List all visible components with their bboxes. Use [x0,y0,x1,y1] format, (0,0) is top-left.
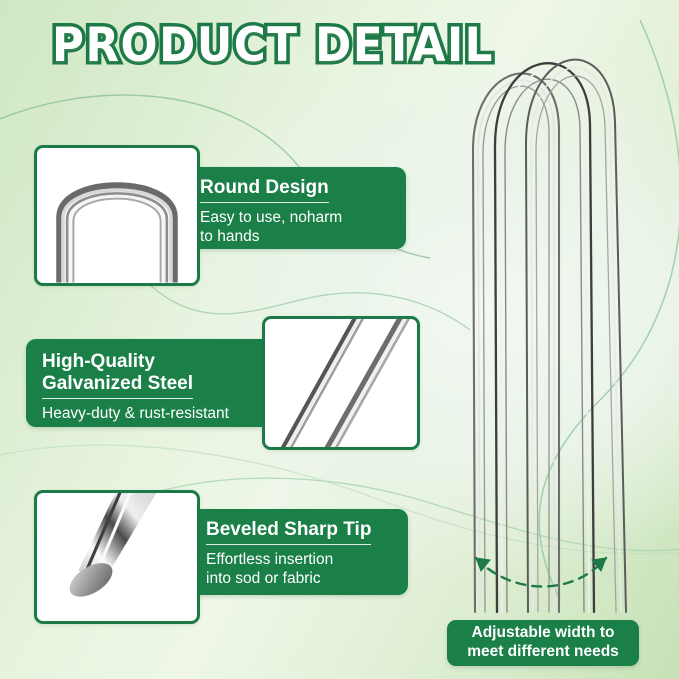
product-detail-infographic: PRODUCT DETAIL Round Design Easy to use,… [0,0,679,679]
adjustable-width-double-arrow [476,558,606,587]
beveled-tip-closeup-photo [37,493,197,621]
feature-callout-round-design: Round Design Easy to use, noharm to hand… [184,167,406,249]
feature-callout-beveled-tip: Beveled Sharp Tip Effortless insertion i… [190,509,408,595]
page-title: PRODUCT DETAIL [52,22,494,69]
feature-thumbnail-beveled-tip [34,490,200,624]
galvanized-rods-closeup-photo [265,319,417,447]
feature-thumbnail-galvanized-steel [262,316,420,450]
feature-subtitle-round-design: Easy to use, noharm to hands [200,208,392,247]
round-arch-staple-photo [37,148,197,283]
feature-title-beveled-tip: Beveled Sharp Tip [206,519,371,545]
feature-subtitle-beveled-tip: Effortless insertion into sod or fabric [206,550,394,589]
feature-subtitle-galvanized-steel: Heavy-duty & rust-resistant [42,404,262,423]
feature-title-round-design: Round Design [200,177,329,203]
hero-product-photo [440,0,679,620]
adjustable-width-caption: Adjustable width to meet different needs [447,620,639,666]
feature-callout-galvanized-steel: High-Quality Galvanized Steel Heavy-duty… [26,339,276,427]
feature-title-galvanized-steel: High-Quality Galvanized Steel [42,351,193,399]
feature-thumbnail-round-design [34,145,200,286]
